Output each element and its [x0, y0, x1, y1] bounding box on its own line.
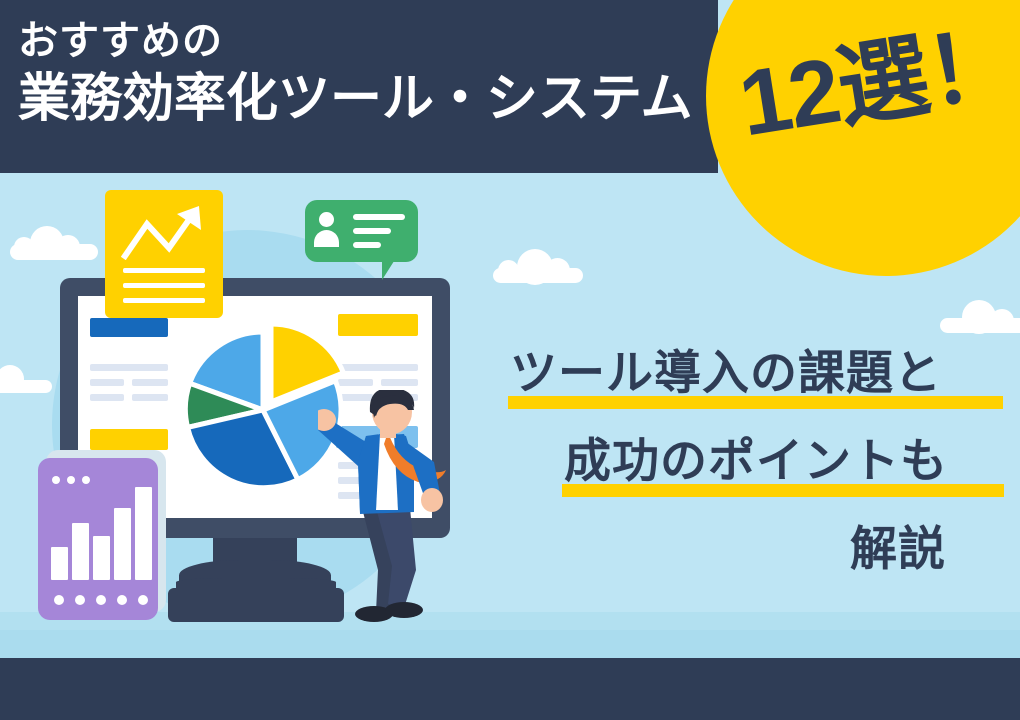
poster-canvas: おすすめの 業務効率化ツール・システム 12選！ ツール導入の課題と 成功のポイ…: [0, 0, 1020, 720]
window-dot-icon: [67, 476, 75, 484]
bar-chart-card: [38, 458, 158, 620]
pagination-dot-icon: [96, 595, 106, 605]
cloud-icon-right: [940, 318, 1020, 333]
bar-chart-bar: [72, 523, 89, 580]
chat-bubble-text-line: [353, 214, 405, 220]
cloud-icon-left: [10, 244, 98, 260]
chat-bubble-text-line: [353, 228, 391, 234]
window-dot-icon: [52, 476, 60, 484]
pagination-dot-icon: [75, 595, 85, 605]
header-banner: おすすめの 業務効率化ツール・システム: [0, 0, 718, 173]
report-card: [105, 190, 223, 318]
person-icon-head: [319, 212, 334, 227]
dashboard-left-text-line: [90, 364, 168, 371]
pagination-dot-icon: [138, 595, 148, 605]
header-subtitle: おすすめの: [18, 16, 708, 66]
footer-band: [0, 658, 1020, 720]
report-card-text-line: [123, 298, 205, 303]
dashboard-left-text-line: [90, 394, 124, 401]
dashboard-right-text-line: [381, 379, 418, 386]
businessman-illustration: [318, 390, 458, 625]
bar-chart-bar: [135, 487, 152, 580]
header-text-block: おすすめの 業務効率化ツール・システム: [18, 16, 708, 130]
headline-line-2: 成功のポイントも: [564, 433, 948, 489]
chat-bubble: [305, 200, 418, 262]
dashboard-left-bottom-bar: [90, 429, 168, 450]
line-chart-up-arrow-icon: [121, 202, 207, 260]
bar-chart-bar: [51, 547, 68, 580]
dashboard-left-accent-bar: [90, 318, 168, 337]
pagination-dot-icon: [54, 595, 64, 605]
headline-line-1: ツール導入の課題と: [510, 345, 942, 401]
dashboard-left-text-line: [132, 379, 168, 386]
person-icon-body: [314, 230, 339, 247]
bar-chart-bar: [93, 536, 110, 580]
window-dot-icon: [82, 476, 90, 484]
dashboard-left-text-line: [90, 379, 124, 386]
person-shoe-front: [385, 602, 423, 618]
chat-bubble-text-line: [353, 242, 381, 248]
person-hand-lowered: [421, 488, 443, 512]
header-title: 業務効率化ツール・システム: [18, 68, 708, 130]
headline-line-3: 解説: [850, 521, 946, 577]
ground-band-lower: [0, 630, 1020, 658]
cloud-icon-center: [493, 268, 583, 283]
report-card-text-line: [123, 283, 205, 288]
cloud-icon-far-left: [0, 380, 52, 393]
dashboard-left-text-line: [132, 394, 168, 401]
chat-bubble-tail: [382, 258, 396, 280]
report-card-text-line: [123, 268, 205, 273]
bar-chart-bar: [114, 508, 131, 580]
pagination-dot-icon: [117, 595, 127, 605]
